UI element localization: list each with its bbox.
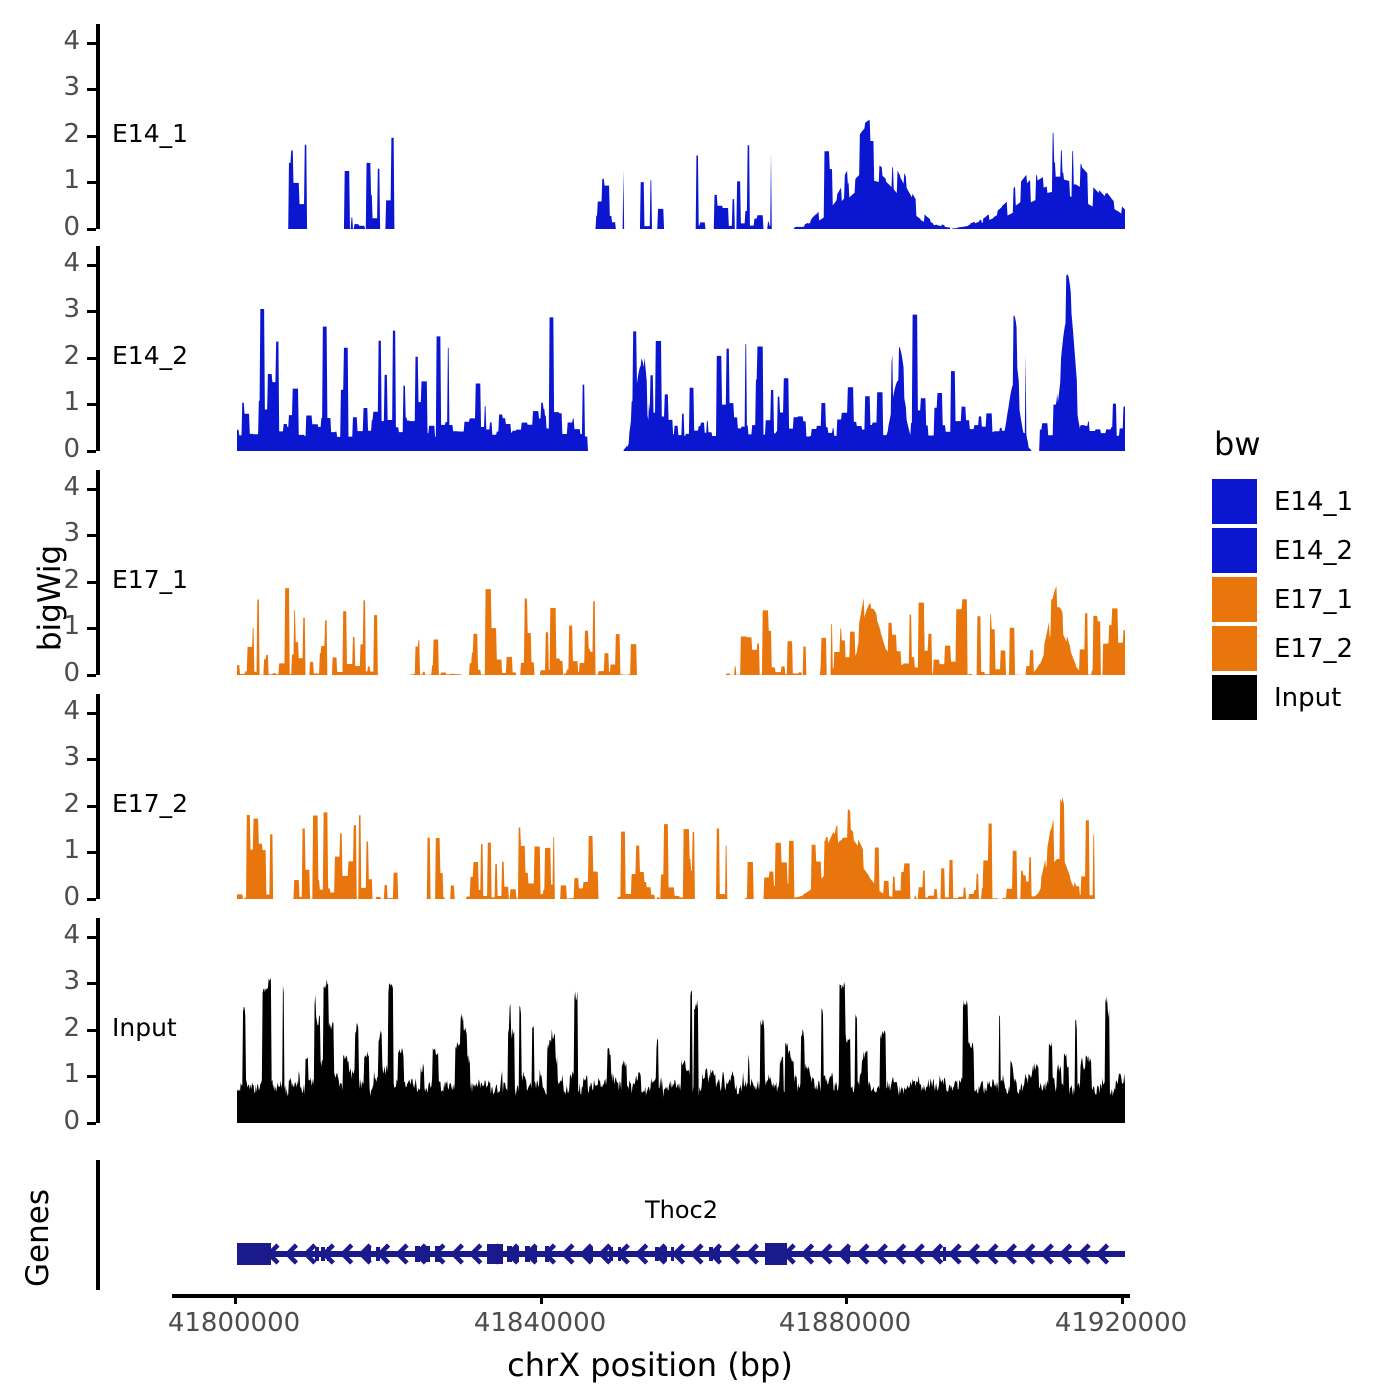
signal-track-e14_1[interactable] (100, 24, 1130, 229)
y-tick (87, 581, 96, 584)
y-tick-label: 2 (20, 341, 80, 371)
y-tick (87, 534, 96, 537)
y-tick-label: 4 (20, 248, 80, 278)
y-tick-label: 2 (20, 789, 80, 819)
x-tick-label: 41920000 (1011, 1308, 1231, 1338)
gene-label: Thoc2 (645, 1196, 718, 1224)
y-tick-label: 3 (20, 742, 80, 772)
y-tick-label: 2 (20, 1013, 80, 1043)
y-tick-label: 4 (20, 696, 80, 726)
x-tick (540, 1294, 543, 1304)
y-tick-label: 0 (20, 434, 80, 464)
legend-swatch-e14_1 (1212, 479, 1257, 524)
y-tick-label: 3 (20, 72, 80, 102)
y-tick (87, 228, 96, 231)
y-tick (87, 1029, 96, 1032)
x-tick-label: 41840000 (430, 1308, 650, 1338)
y-tick-label: 1 (20, 835, 80, 865)
x-tick-label: 41880000 (735, 1308, 955, 1338)
y-tick-label: 3 (20, 294, 80, 324)
legend-swatch-e14_2 (1212, 528, 1257, 573)
legend-swatch-e17_2 (1212, 626, 1257, 671)
y-tick-label: 1 (20, 611, 80, 641)
legend-label: E17_2 (1274, 634, 1353, 664)
signal-track-e17_1[interactable] (100, 470, 1130, 675)
legend-swatch-e17_1 (1212, 577, 1257, 622)
y-tick (87, 758, 96, 761)
y-tick-label: 3 (20, 518, 80, 548)
y-tick (87, 674, 96, 677)
y-tick-label: 4 (20, 26, 80, 56)
y-tick-label: 3 (20, 966, 80, 996)
y-tick-label: 1 (20, 1059, 80, 1089)
y-tick (87, 982, 96, 985)
legend-item-input[interactable]: Input (1212, 673, 1392, 722)
y-tick-label: 2 (20, 119, 80, 149)
y-tick-label: 0 (20, 882, 80, 912)
y-tick (87, 403, 96, 406)
y-tick (87, 1075, 96, 1078)
y-tick-label: 4 (20, 472, 80, 502)
y-tick-label: 1 (20, 165, 80, 195)
signal-track-e14_2[interactable] (100, 246, 1130, 451)
signal-path-e14_1 (100, 24, 1130, 229)
y-tick (87, 42, 96, 45)
signal-path-input (100, 918, 1130, 1123)
legend-swatch-input (1212, 675, 1257, 720)
legend-label: E17_1 (1274, 585, 1353, 615)
signal-path-e17_1 (100, 470, 1130, 675)
legend-item-e14_2[interactable]: E14_2 (1212, 526, 1392, 575)
x-tick (234, 1294, 237, 1304)
x-axis-line (172, 1294, 1130, 1298)
y-tick (87, 357, 96, 360)
legend: bw E14_1E14_2E17_1E17_2Input (1212, 425, 1392, 722)
y-tick-label: 4 (20, 920, 80, 950)
y-tick (87, 851, 96, 854)
signal-path-e17_2 (100, 694, 1130, 899)
y-tick (87, 627, 96, 630)
y-tick (87, 310, 96, 313)
y-tick (87, 135, 96, 138)
legend-item-e14_1[interactable]: E14_1 (1212, 477, 1392, 526)
y-tick (87, 898, 96, 901)
y-tick (87, 712, 96, 715)
legend-label: E14_1 (1274, 487, 1353, 517)
legend-title: bw (1214, 425, 1392, 463)
genes-axis-title: Genes (20, 1178, 56, 1298)
y-tick (87, 88, 96, 91)
y-tick-label: 0 (20, 658, 80, 688)
legend-label: E14_2 (1274, 536, 1353, 566)
y-tick (87, 936, 96, 939)
x-axis-title: chrX position (bp) (200, 1346, 1100, 1384)
x-tick-label: 41800000 (124, 1308, 344, 1338)
y-tick-label: 0 (20, 212, 80, 242)
genome-browser-figure: bigWig Genes 01234E14_101234E14_201234E1… (0, 0, 1400, 1400)
genes-track: Thoc2 (100, 1160, 1130, 1290)
y-tick (87, 450, 96, 453)
y-tick-label: 2 (20, 565, 80, 595)
x-tick (845, 1294, 848, 1304)
legend-item-e17_1[interactable]: E17_1 (1212, 575, 1392, 624)
legend-item-e17_2[interactable]: E17_2 (1212, 624, 1392, 673)
y-tick (87, 264, 96, 267)
signal-path-e14_2 (100, 246, 1130, 451)
signal-track-input[interactable] (100, 918, 1130, 1123)
y-tick (87, 488, 96, 491)
legend-label: Input (1274, 683, 1341, 713)
signal-track-e17_2[interactable] (100, 694, 1130, 899)
legend-items: E14_1E14_2E17_1E17_2Input (1212, 477, 1392, 722)
gene-model[interactable] (100, 1160, 1130, 1290)
y-tick-label: 0 (20, 1106, 80, 1136)
x-tick (1121, 1294, 1124, 1304)
y-tick-label: 1 (20, 387, 80, 417)
y-tick (87, 805, 96, 808)
y-tick (87, 1122, 96, 1125)
y-tick (87, 181, 96, 184)
